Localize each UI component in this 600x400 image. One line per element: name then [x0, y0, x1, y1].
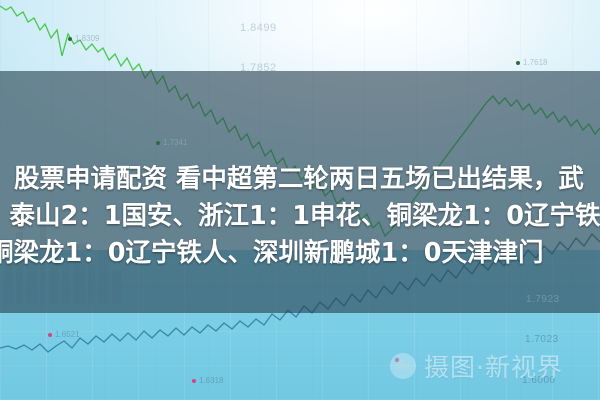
marker-dot-icon — [68, 37, 72, 41]
headline-line-1: 股票申请配资 看中超第二轮两日五场已出结果，武 — [14, 161, 600, 198]
chart-marker-4: 1.6521 — [48, 330, 79, 339]
news-thumbnail-image: 1.8499 1.7852 1.8309 1.7618 1.7341 1.792… — [0, 0, 600, 400]
headline-line-3: 花、铜梁龙1：0辽宁铁人、深圳新鹏城1：0天津津门 — [0, 235, 600, 272]
marker-dot-icon — [192, 379, 196, 383]
marker-dot-icon — [516, 61, 520, 65]
price-label-band-1: 1.7923 — [526, 294, 560, 305]
price-label-upper-1: 1.8499 — [240, 22, 277, 34]
chart-marker-1: 1.8309 — [68, 34, 99, 43]
chart-marker-3: 1.7341 — [156, 138, 187, 147]
price-label-lower-2: 1.6000 — [522, 375, 556, 386]
headline-text: 股票申请配资 看中超第二轮两日五场已出结果，武 、泰山2：1国安、浙江1：1申花… — [14, 161, 600, 272]
price-label-lower-1: 1.7023 — [525, 334, 559, 345]
marker-dot-icon — [48, 333, 52, 337]
marker-dot-icon — [156, 141, 160, 145]
chart-marker-2: 1.7618 — [516, 58, 547, 67]
chart-marker-5: 1.6318 — [192, 376, 223, 385]
headline-line-2: 、泰山2：1国安、浙江1：1申花、铜梁龙1：0辽宁铁 — [0, 198, 600, 235]
